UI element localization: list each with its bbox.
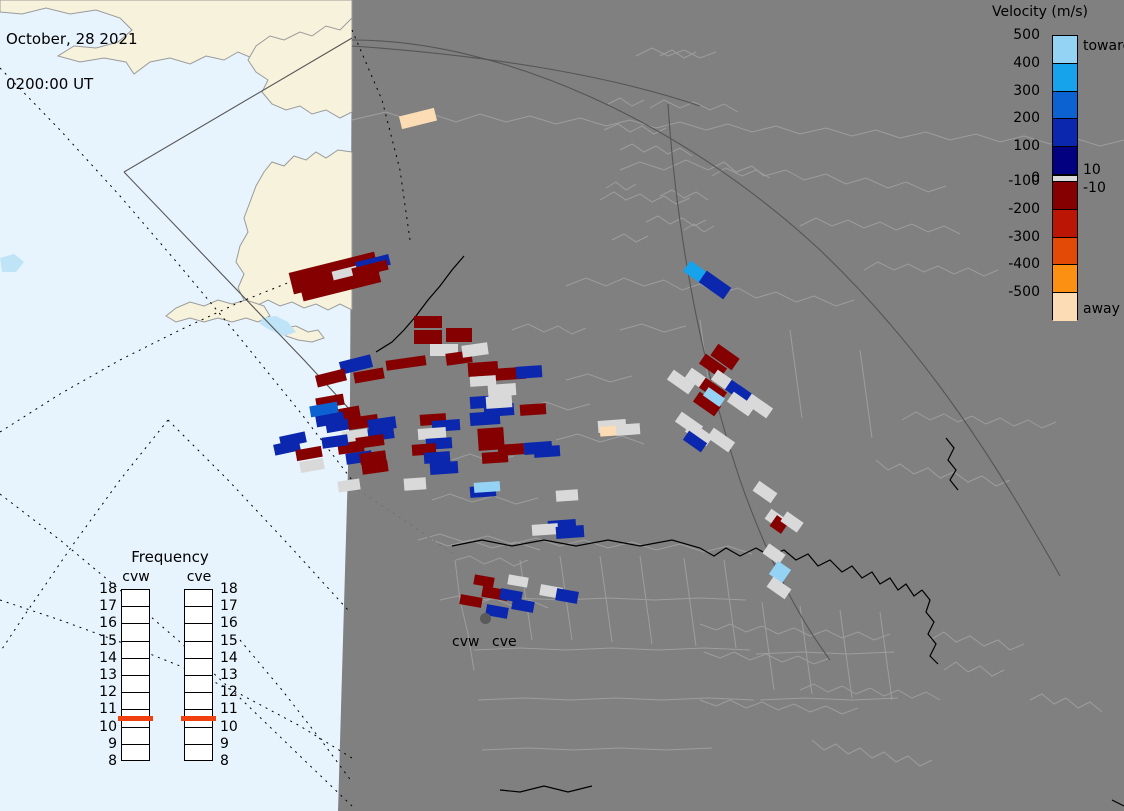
frequency-marker-cvw xyxy=(118,716,153,721)
velocity-cell[interactable] xyxy=(762,543,785,564)
frequency-tick-label: 10 xyxy=(220,719,238,735)
colorbar-tick-label: -500 xyxy=(1008,284,1040,300)
velocity-colorbar: Velocity (m/s) 5004003002001000-100-200-… xyxy=(975,4,1124,334)
radar-site-marker xyxy=(480,613,491,624)
colorbar-segment xyxy=(1053,175,1077,182)
velocity-cell[interactable] xyxy=(516,365,543,379)
frequency-tick-label: 8 xyxy=(220,753,229,769)
velocity-cell[interactable] xyxy=(534,445,561,458)
frequency-tick-label: 13 xyxy=(220,667,238,683)
velocity-cell[interactable] xyxy=(520,403,547,416)
velocity-cell[interactable] xyxy=(507,574,528,587)
velocity-cell[interactable] xyxy=(315,369,347,388)
frequency-row xyxy=(122,676,149,693)
frequency-row xyxy=(122,659,149,676)
velocity-cell[interactable] xyxy=(486,395,513,409)
frequency-row xyxy=(122,728,149,745)
velocity-cell[interactable] xyxy=(555,588,579,604)
frequency-title: Frequency xyxy=(95,548,245,566)
colorbar-gradient[interactable] xyxy=(1052,35,1078,320)
colorbar-tick-label: 200 xyxy=(1013,110,1040,126)
frequency-tick-label: 10 xyxy=(95,719,117,735)
frequency-tick-label: 15 xyxy=(220,633,238,649)
site-label-cve: cve xyxy=(492,634,517,650)
velocity-cell[interactable] xyxy=(337,479,360,493)
frequency-tick-label: 18 xyxy=(220,581,238,597)
colorbar-segment xyxy=(1053,238,1077,266)
velocity-cell[interactable] xyxy=(430,461,459,475)
frequency-row xyxy=(185,607,212,624)
velocity-cell[interactable] xyxy=(482,451,509,464)
superdarn-map-view: October, 28 2021 0200:00 UT Velocity (m/… xyxy=(0,0,1124,811)
colorbar-segment xyxy=(1053,182,1077,210)
frequency-tick-label: 14 xyxy=(95,650,117,666)
frequency-row xyxy=(185,693,212,710)
frequency-row xyxy=(122,693,149,710)
velocity-cell[interactable] xyxy=(556,489,579,502)
frequency-tick-label: 9 xyxy=(220,736,229,752)
frequency-tick-label: 16 xyxy=(95,615,117,631)
frequency-tick-label: 11 xyxy=(95,701,117,717)
velocity-cell[interactable] xyxy=(532,523,559,536)
frequency-row xyxy=(185,659,212,676)
frequency-tick-label: 11 xyxy=(220,701,238,717)
site-label-cvw: cvw xyxy=(452,634,479,650)
frequency-row xyxy=(185,728,212,745)
frequency-tick-label: 18 xyxy=(95,581,117,597)
frequency-row xyxy=(122,745,149,762)
colorbar-segment xyxy=(1053,265,1077,293)
colorbar-tick-label: 400 xyxy=(1013,55,1040,71)
frequency-tick-label: 9 xyxy=(95,736,117,752)
velocity-cell[interactable] xyxy=(753,481,778,503)
colorbar-zero-upper-label: 10 xyxy=(1083,162,1101,178)
colorbar-tick-label: 100 xyxy=(1013,138,1040,154)
velocity-cell[interactable] xyxy=(404,477,427,491)
velocity-cell[interactable] xyxy=(511,598,535,613)
colorbar-segment xyxy=(1053,119,1077,147)
velocity-cell[interactable] xyxy=(299,458,325,473)
timestamp-title: October, 28 2021 0200:00 UT xyxy=(6,2,138,122)
frequency-tick-label: 16 xyxy=(220,615,238,631)
velocity-cell[interactable] xyxy=(461,342,488,358)
frequency-row xyxy=(185,590,212,607)
frequency-tick-label: 17 xyxy=(95,598,117,614)
frequency-row xyxy=(185,676,212,693)
frequency-column-cvw[interactable] xyxy=(121,589,150,761)
velocity-cell[interactable] xyxy=(488,383,517,397)
frequency-row xyxy=(122,607,149,624)
velocity-cell[interactable] xyxy=(414,316,442,328)
frequency-tick-label: 14 xyxy=(220,650,238,666)
frequency-column-label: cvw xyxy=(113,569,159,585)
frequency-marker-cve xyxy=(181,716,216,721)
colorbar-tick-label: -300 xyxy=(1008,229,1040,245)
colorbar-segment xyxy=(1053,64,1077,92)
velocity-cell[interactable] xyxy=(385,355,426,370)
frequency-tick-label: 17 xyxy=(220,598,238,614)
colorbar-segment xyxy=(1053,293,1077,321)
velocity-cell[interactable] xyxy=(459,594,482,608)
velocity-cell[interactable] xyxy=(556,525,585,539)
title-time: 0200:00 UT xyxy=(6,77,138,92)
frequency-row xyxy=(185,624,212,641)
velocity-cell[interactable] xyxy=(474,481,501,493)
velocity-cell[interactable] xyxy=(707,428,735,453)
colorbar-segment xyxy=(1053,147,1077,175)
frequency-tick-label: 13 xyxy=(95,667,117,683)
velocity-cell[interactable] xyxy=(473,574,494,587)
frequency-row xyxy=(185,642,212,659)
frequency-tick-label: 12 xyxy=(220,684,238,700)
colorbar-zero-lower-label: -10 xyxy=(1083,180,1106,196)
frequency-row xyxy=(122,590,149,607)
velocity-cell[interactable] xyxy=(616,423,641,436)
colorbar-tick-label: -200 xyxy=(1008,201,1040,217)
frequency-column-label: cve xyxy=(176,569,222,585)
frequency-tick-label: 15 xyxy=(95,633,117,649)
colorbar-segment xyxy=(1053,92,1077,120)
colorbar-tick-label: -100 xyxy=(1008,173,1040,189)
colorbar-title: Velocity (m/s) xyxy=(975,4,1105,20)
velocity-cell[interactable] xyxy=(446,328,472,342)
frequency-legend: Frequency cvw18171615141312111098cve1817… xyxy=(95,548,245,783)
velocity-cell[interactable] xyxy=(399,108,437,129)
frequency-tick-label: 8 xyxy=(95,753,117,769)
colorbar-toward-label: toward xyxy=(1083,38,1124,54)
frequency-row xyxy=(185,745,212,762)
colorbar-segment xyxy=(1053,36,1077,64)
colorbar-tick-label: 300 xyxy=(1013,83,1040,99)
colorbar-tick-label: 500 xyxy=(1013,27,1040,43)
colorbar-tick-label: -400 xyxy=(1008,256,1040,272)
title-date: October, 28 2021 xyxy=(6,32,138,47)
colorbar-segment xyxy=(1053,210,1077,238)
frequency-row xyxy=(122,624,149,641)
frequency-tick-label: 12 xyxy=(95,684,117,700)
frequency-row xyxy=(122,642,149,659)
frequency-column-cve[interactable] xyxy=(184,589,213,761)
velocity-cell[interactable] xyxy=(414,330,442,344)
colorbar-away-label: away xyxy=(1083,301,1120,317)
